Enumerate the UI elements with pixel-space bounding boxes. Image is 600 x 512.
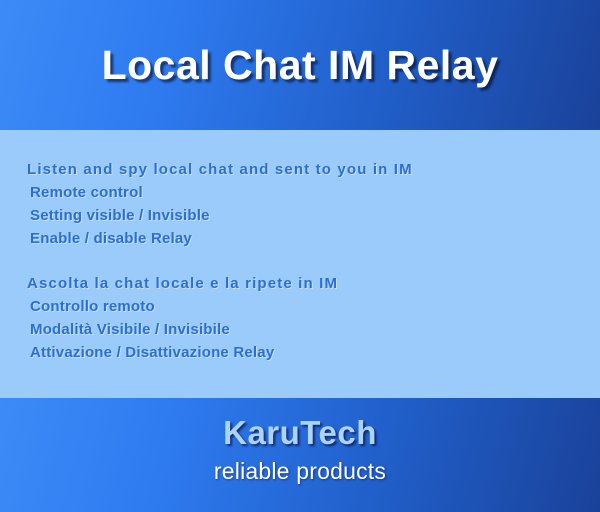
feature-list-italian: Ascolta la chat locale e la ripete in IM…	[0, 272, 460, 364]
feature-item: Modalità Visibile / Invisibile	[0, 318, 460, 341]
feature-item: Remote control	[0, 181, 460, 204]
footer-band: KaruTech reliable products	[0, 398, 600, 512]
feature-list-english: Listen and spy local chat and sent to yo…	[0, 158, 460, 250]
body-panel: Listen and spy local chat and sent to yo…	[0, 130, 600, 398]
page-title: Local Chat IM Relay	[0, 0, 600, 130]
feature-item: Attivazione / Disattivazione Relay	[0, 341, 460, 364]
feature-item: Controllo remoto	[0, 295, 460, 318]
feature-item: Setting visible / Invisible	[0, 204, 460, 227]
brand-tagline: reliable products	[0, 458, 600, 485]
promo-banner: Local Chat IM Relay Listen and spy local…	[0, 0, 600, 512]
header-band: Local Chat IM Relay	[0, 0, 600, 130]
feature-item: Listen and spy local chat and sent to yo…	[0, 158, 460, 181]
feature-item: Enable / disable Relay	[0, 227, 460, 250]
feature-item: Ascolta la chat locale e la ripete in IM	[0, 272, 460, 295]
brand-name: KaruTech	[0, 414, 600, 452]
